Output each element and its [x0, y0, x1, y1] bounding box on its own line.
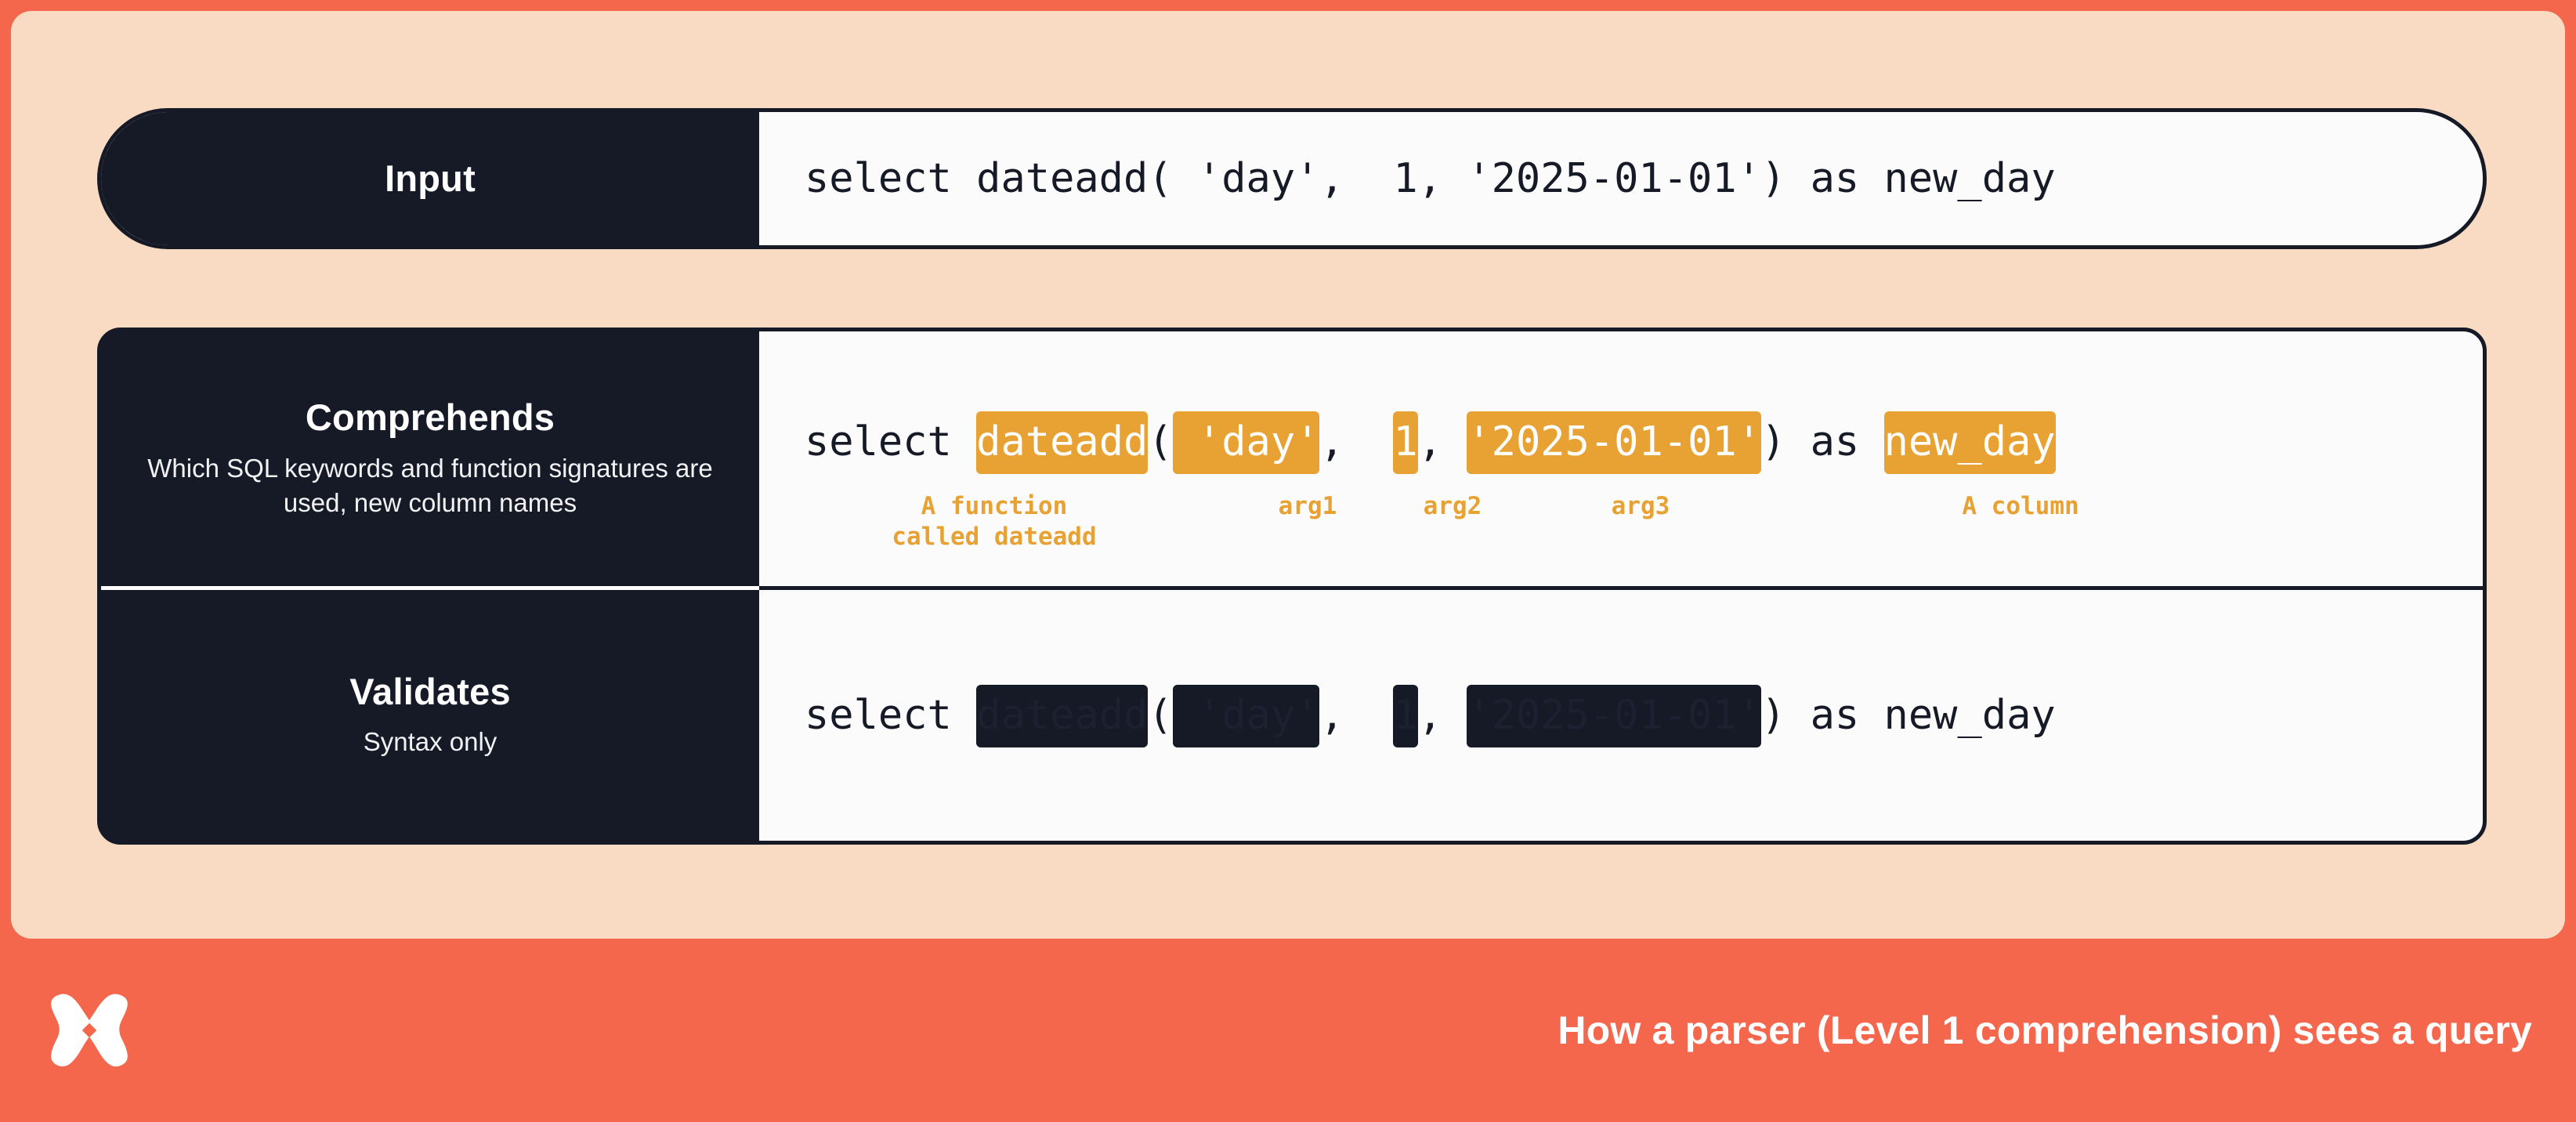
val-token-as: ) as new_day — [1761, 692, 2056, 739]
annotation-function: A function called dateadd — [838, 491, 1151, 552]
comprehends-row: Comprehends Which SQL keywords and funct… — [101, 331, 2483, 586]
comprehends-code-text: select dateadd( 'day', 1, '2025-01-01') … — [805, 422, 2056, 462]
code-token-select: select — [805, 418, 976, 465]
comprehends-subtitle: Which SQL keywords and function signatur… — [117, 451, 743, 520]
annotation-arg2: arg2 — [1390, 491, 1515, 522]
validates-title: Validates — [349, 671, 511, 712]
poster-canvas: Input select dateadd( 'day', 1, '2025-01… — [0, 0, 2576, 1122]
validates-code-text: select dateadd( 'day', 1, '2025-01-01') … — [805, 695, 2056, 736]
code-token-comma1: , — [1319, 418, 1393, 465]
val-redacted-arg3: '2025-01-01' — [1467, 685, 1761, 747]
comprehension-card: Comprehends Which SQL keywords and funct… — [97, 328, 2487, 845]
validates-subtitle: Syntax only — [364, 725, 497, 759]
code-token-comma2: , — [1418, 418, 1467, 465]
val-redacted-arg1: 'day' — [1173, 685, 1320, 747]
butterfly-x-logo-icon — [44, 985, 135, 1076]
input-code-text: select dateadd( 'day', 1, '2025-01-01') … — [805, 158, 2056, 199]
code-token-open-paren: ( — [1148, 418, 1172, 465]
comprehends-label-cell: Comprehends Which SQL keywords and funct… — [101, 331, 759, 586]
code-highlight-column: new_day — [1884, 411, 2056, 474]
validates-label-cell: Validates Syntax only — [101, 586, 759, 841]
content-panel: Input select dateadd( 'day', 1, '2025-01… — [11, 11, 2565, 939]
validates-row: Validates Syntax only select dateadd( 'd… — [101, 586, 2483, 841]
input-row-title: Input — [385, 158, 476, 199]
code-highlight-arg1: 'day' — [1173, 411, 1320, 474]
comprehends-title: Comprehends — [306, 397, 555, 438]
code-highlight-function: dateadd — [976, 411, 1148, 474]
code-highlight-arg3: '2025-01-01' — [1467, 411, 1761, 474]
comprehends-code-cell: select dateadd( 'day', 1, '2025-01-01') … — [759, 331, 2483, 586]
footer-caption: How a parser (Level 1 comprehension) see… — [1558, 1008, 2532, 1053]
val-token-comma2: , — [1418, 692, 1467, 739]
input-row: Input select dateadd( 'day', 1, '2025-01… — [97, 108, 2487, 249]
annotation-arg1: arg1 — [1237, 491, 1378, 522]
annotation-column: A column — [1872, 491, 2169, 522]
val-redacted-arg2: 1 — [1393, 685, 1417, 747]
code-token-as: ) as — [1761, 418, 1884, 465]
annotation-arg3: arg3 — [1511, 491, 1770, 522]
val-token-comma1: , — [1319, 692, 1393, 739]
input-row-label-cell: Input — [101, 112, 759, 245]
input-row-code-cell: select dateadd( 'day', 1, '2025-01-01') … — [759, 112, 2483, 245]
validates-code-cell: select dateadd( 'day', 1, '2025-01-01') … — [759, 586, 2483, 841]
val-token-open-paren: ( — [1148, 692, 1172, 739]
code-highlight-arg2: 1 — [1393, 411, 1417, 474]
val-redacted-function: dateadd — [976, 685, 1148, 747]
footer-bar: How a parser (Level 1 comprehension) see… — [0, 939, 2576, 1122]
val-token-select: select — [805, 692, 976, 739]
